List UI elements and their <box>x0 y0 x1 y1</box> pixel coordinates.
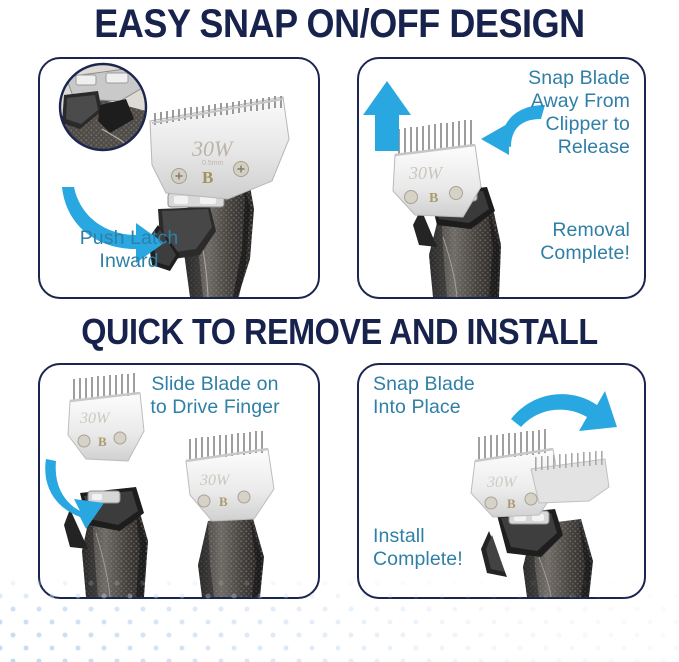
panel-snap-into-place: 30W B Snap Blade I <box>357 363 646 599</box>
clipper-body-right <box>198 515 264 597</box>
page-title-top: EASY SNAP ON/OFF DESIGN <box>34 1 645 47</box>
clipper-body-left <box>82 499 148 597</box>
curved-arrow-down-right-icon <box>45 459 104 529</box>
blade-teeth <box>478 429 546 461</box>
brand-mark: B <box>202 168 213 187</box>
blade-teeth-rear <box>535 451 603 471</box>
brand-mark: B <box>219 494 228 509</box>
caption-removal-complete: Removal Complete! <box>450 219 630 265</box>
caption-snap-blade-away: Snap Blade Away From Clipper to Release <box>450 67 630 159</box>
clipper-blade: 30W 0.5mm B <box>150 96 289 199</box>
page-title-middle: QUICK TO REMOVE AND INSTALL <box>34 311 645 353</box>
blade-label: 30W <box>199 472 231 489</box>
blade-label: 30W <box>79 410 111 427</box>
panel-push-latch: 30W 0.5mm B <box>38 57 320 299</box>
brand-mark: B <box>507 496 516 511</box>
infographic-page: EASY SNAP ON/OFF DESIGN <box>0 0 679 662</box>
caption-install-complete: Install Complete! <box>373 525 533 571</box>
blade-label: 30W <box>408 163 444 183</box>
blade-teeth <box>154 96 282 125</box>
blade-teeth <box>189 431 263 461</box>
caption-push-latch: Push Latch Inward <box>54 227 204 273</box>
clipper-body <box>523 519 593 597</box>
panel-snap-blade-away: 30W B Snap Blade Away From Clipper to Re… <box>357 57 646 299</box>
brand-mark: B <box>429 191 438 206</box>
blade-sub-label: 0.5mm <box>202 160 224 167</box>
brand-mark: B <box>98 434 107 449</box>
clipper-blade-rear <box>531 451 609 503</box>
blade-label: 30W <box>191 136 234 161</box>
caption-snap-into-place: Snap Blade Into Place <box>373 373 533 419</box>
blade-label: 30W <box>486 474 518 491</box>
caption-slide-blade: Slide Blade on to Drive Finger <box>120 373 310 419</box>
clipper-body <box>183 155 254 297</box>
latch-closeup-inset <box>60 64 146 150</box>
arrow-up-icon <box>363 81 411 151</box>
clipper-blade-upper: 30W B <box>471 429 559 517</box>
drive-finger-left <box>64 487 144 549</box>
panel-slide-blade: 30W B <box>38 363 320 599</box>
blade-on-clipper-right: 30W B <box>186 431 274 521</box>
